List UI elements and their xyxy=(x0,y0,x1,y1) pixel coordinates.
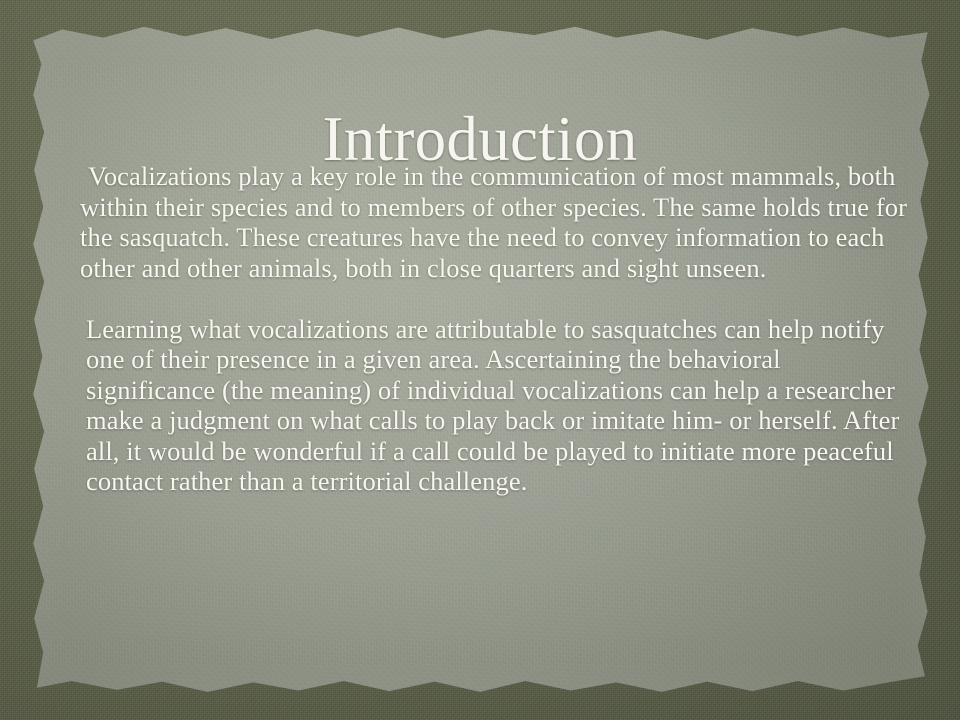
slide-body: Vocalizations play a key role in the com… xyxy=(72,161,912,497)
presentation-slide: Introduction Vocalizations play a key ro… xyxy=(0,0,960,720)
slide-content: Introduction Vocalizations play a key ro… xyxy=(0,0,960,720)
body-paragraph-1: Vocalizations play a key role in the com… xyxy=(72,161,912,283)
body-paragraph-2: Learning what vocalizations are attribut… xyxy=(72,314,912,497)
